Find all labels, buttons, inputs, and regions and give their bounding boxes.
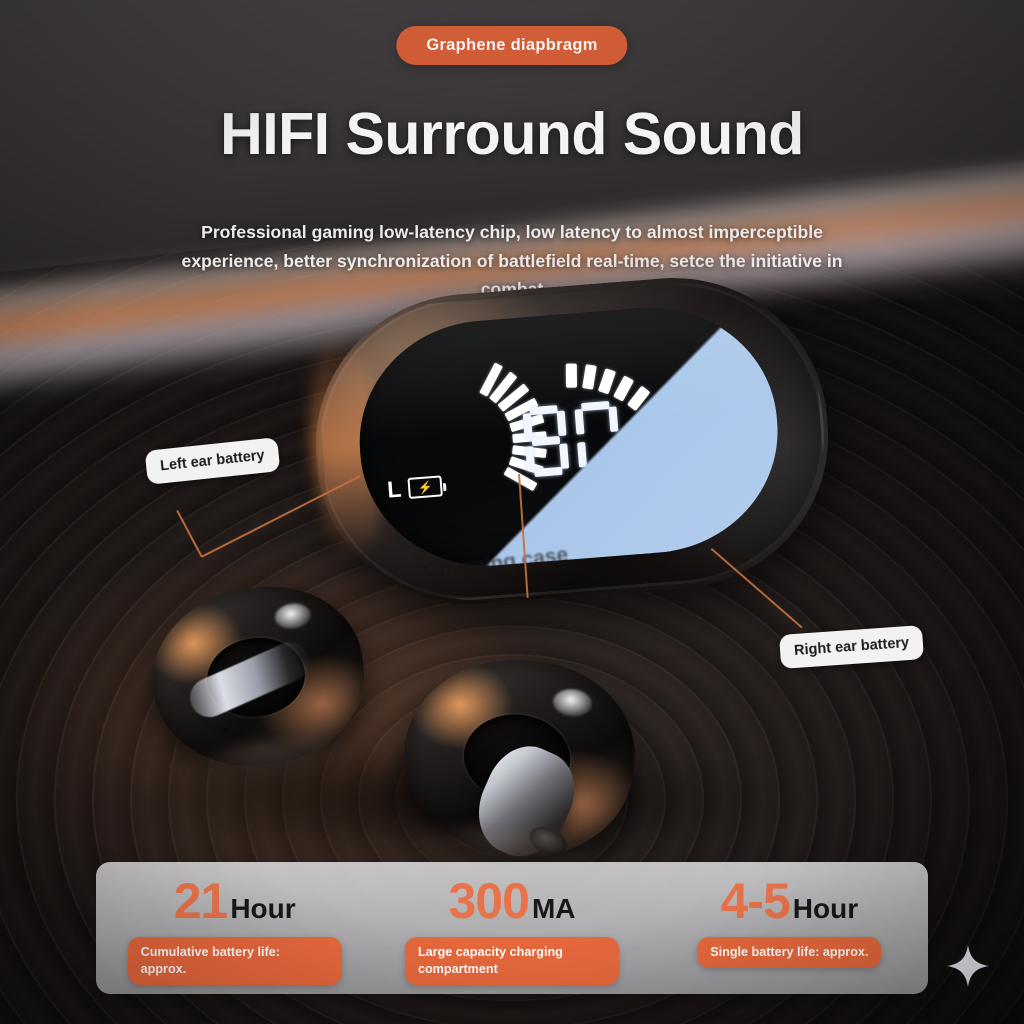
charging-case: L ⚡ R xyxy=(305,266,840,615)
stat-value: 4-5 xyxy=(721,876,790,926)
stat-caption: Single battery life: approx. xyxy=(697,937,881,968)
stat-value: 300 xyxy=(449,876,529,926)
feature-badge: Graphene diapbragm xyxy=(396,26,627,65)
stat-item-cumulative-battery: 21 Hour Cumulative battery life: approx. xyxy=(96,862,373,994)
stat-item-charging-capacity: 300 MA Large capacity charging compartme… xyxy=(373,862,650,994)
stat-value-group: 4-5 Hour xyxy=(721,876,859,926)
stat-item-single-battery: 4-5 Hour Single battery life: approx. xyxy=(651,862,928,994)
earbud-right xyxy=(394,649,643,868)
spec-stats-panel: 21 Hour Cumulative battery life: approx.… xyxy=(96,862,928,994)
product-ad-page: Graphene diapbragm HIFI Surround Sound P… xyxy=(0,0,1024,1024)
stat-value: 21 xyxy=(174,876,228,926)
sparkle-icon xyxy=(946,944,990,988)
stat-value-group: 300 MA xyxy=(449,876,576,926)
stat-caption: Large capacity charging compartment xyxy=(405,937,619,985)
stat-unit: Hour xyxy=(793,895,858,923)
stat-unit: MA xyxy=(532,895,576,923)
stat-unit: Hour xyxy=(230,895,295,923)
stat-caption: Cumulative battery life: approx. xyxy=(128,937,342,985)
page-title: HIFI Surround Sound xyxy=(0,100,1024,168)
earbud-left xyxy=(141,574,376,780)
led-battery-display: L ⚡ R xyxy=(351,298,787,575)
stat-value-group: 21 Hour xyxy=(174,876,296,926)
